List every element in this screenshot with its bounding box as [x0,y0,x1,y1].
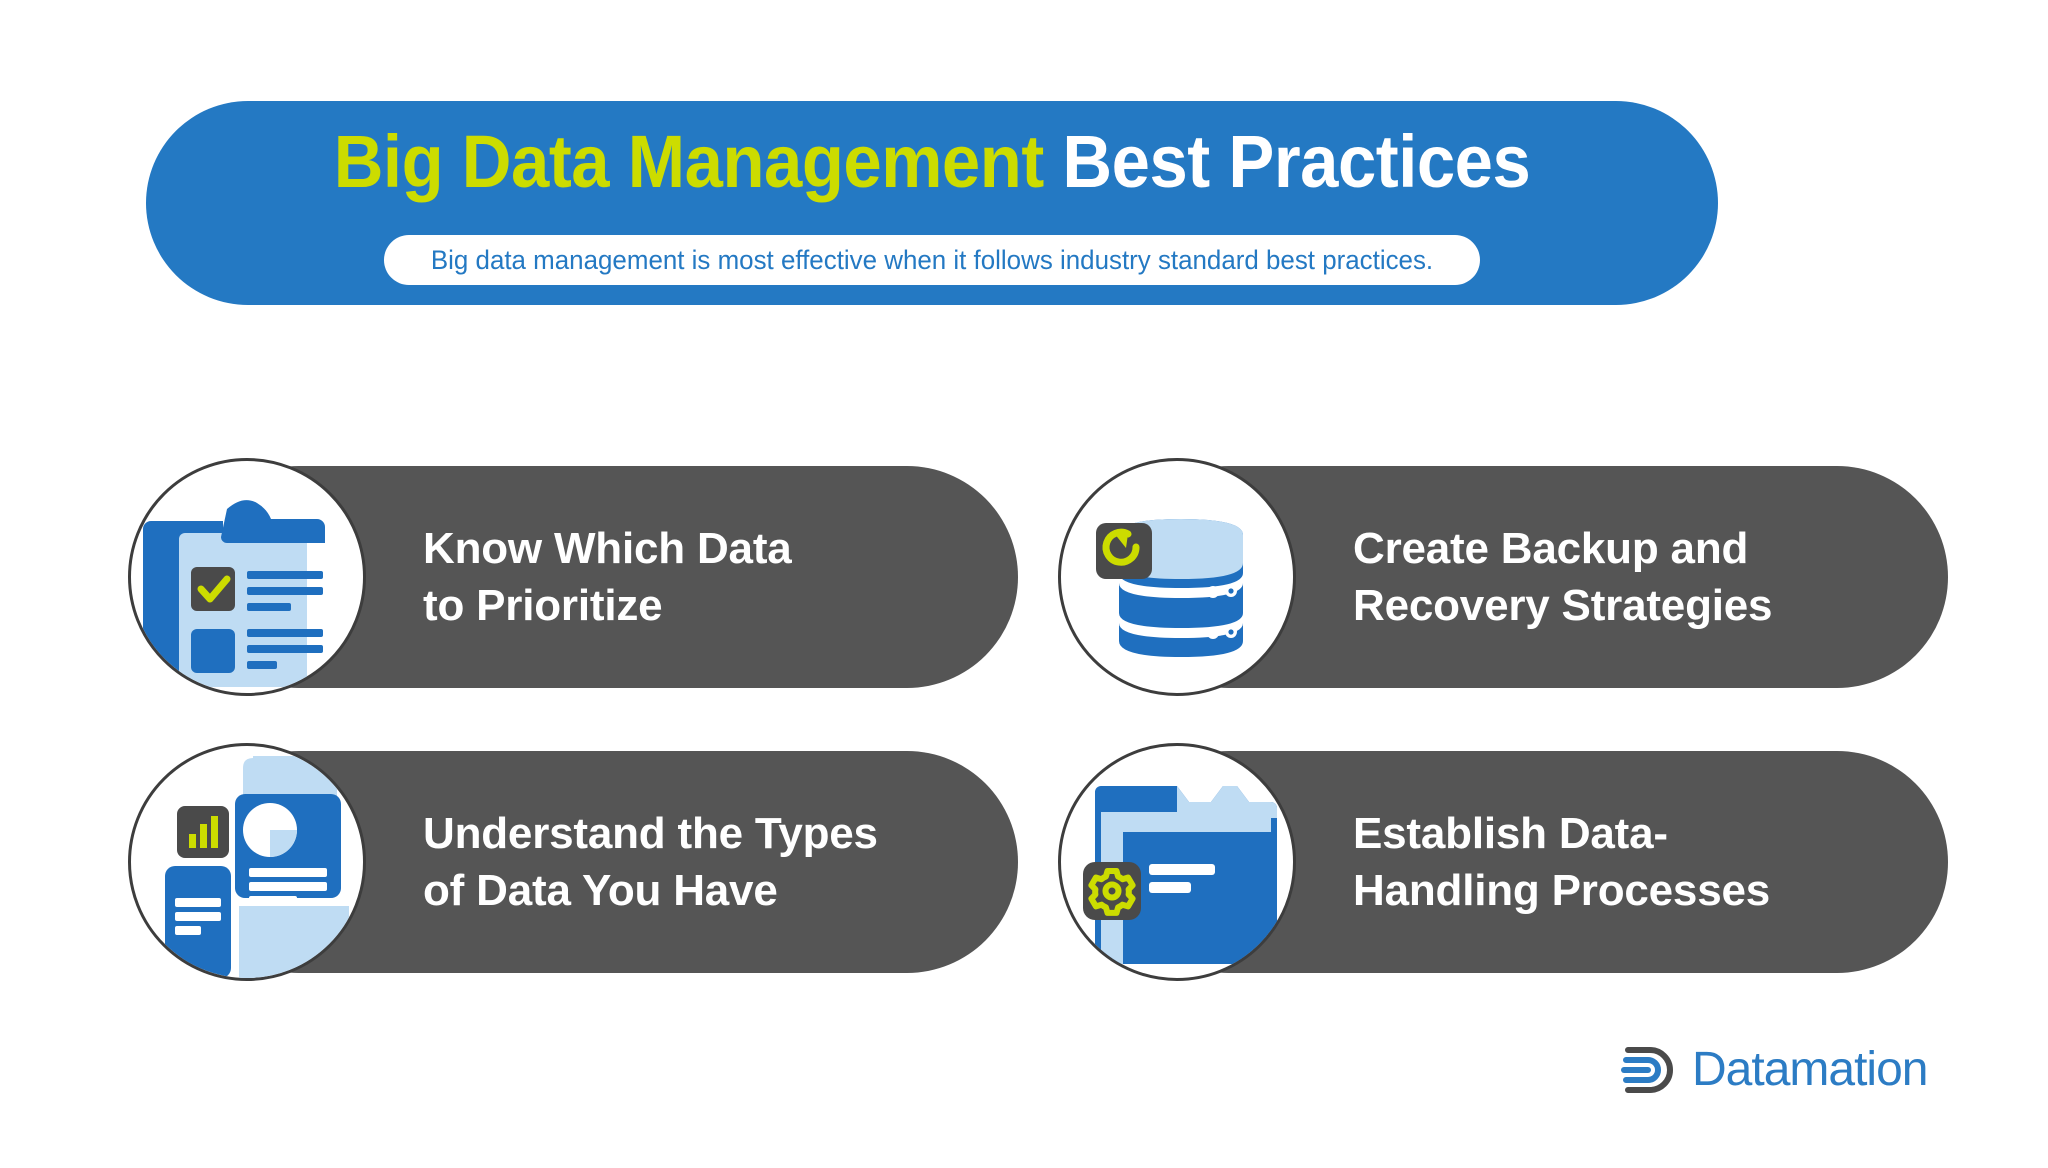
card-label: Create Backup and Recovery Strategies [1353,520,1772,634]
card-label-line-2: Recovery Strategies [1353,577,1772,634]
card-label: Establish Data- Handling Processes [1353,805,1770,919]
card-icon-frame [1058,743,1296,981]
datamation-wordmark: Datamation [1692,1046,1927,1094]
practice-card-establish-processes[interactable]: Establish Data- Handling Processes [1058,743,1948,981]
card-label-line-1: Create Backup and [1353,520,1772,577]
card-label-line-2: Handling Processes [1353,862,1770,919]
card-label: Understand the Types of Data You Have [423,805,878,919]
card-label-line-1: Understand the Types [423,805,878,862]
folder-gear-icon [1061,746,1296,981]
best-practices-list: Know Which Data to Prioritize [0,0,2048,1168]
practice-card-understand-types[interactable]: Understand the Types of Data You Have [128,743,1018,981]
datamation-d-mark-icon [1620,1044,1682,1096]
card-icon-frame [1058,458,1296,696]
database-restore-icon [1061,461,1296,696]
card-icon-frame [128,743,366,981]
card-label-line-2: of Data You Have [423,862,878,919]
datamation-logo[interactable]: Datamation [1620,1044,1927,1096]
practice-card-create-backup[interactable]: Create Backup and Recovery Strategies [1058,458,1948,696]
card-label-line-1: Know Which Data [423,520,792,577]
card-icon-frame [128,458,366,696]
practice-card-know-which-data[interactable]: Know Which Data to Prioritize [128,458,1018,696]
card-label-line-2: to Prioritize [423,577,792,634]
card-label-line-1: Establish Data- [1353,805,1770,862]
card-label: Know Which Data to Prioritize [423,520,792,634]
charts-documents-icon [131,746,366,981]
infographic-canvas: Big Data Management Best Practices Big d… [0,0,2048,1168]
checklist-document-icon [131,461,366,696]
